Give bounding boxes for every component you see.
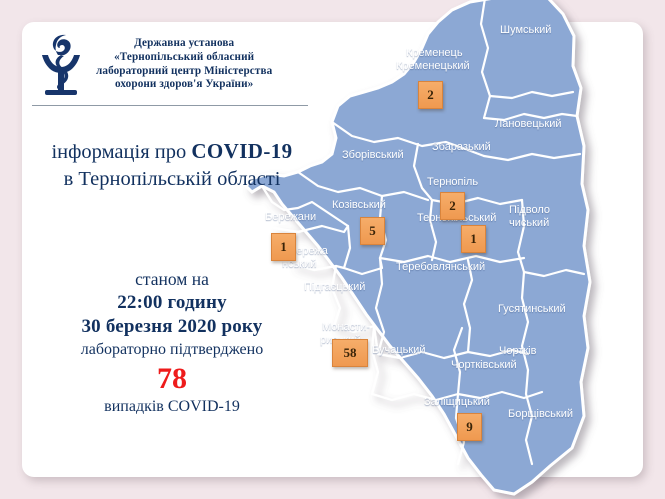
headline-prefix: інформація про	[51, 141, 191, 163]
status-time: 22:00 годину	[22, 291, 322, 315]
org-line-1: Державна установа	[96, 37, 272, 51]
case-badge-kremenetskyi[interactable]: 2	[418, 81, 443, 109]
headline-line2: в Тернопільській області	[22, 166, 322, 193]
headline-covid: COVID-19	[191, 139, 292, 163]
case-badge-ternopilskyi[interactable]: 1	[461, 225, 486, 253]
status-date: 30 березня 2020 року	[22, 315, 322, 339]
status-cases-label: випадків COVID-19	[22, 396, 322, 418]
case-badge-ternopil[interactable]: 2	[440, 192, 465, 220]
org-line-4: охорони здоров'я України»	[96, 78, 272, 92]
bowl-of-hygieia-icon	[32, 29, 90, 101]
case-badge-kozivskyi[interactable]: 5	[360, 217, 385, 245]
status-summary: станом на 22:00 годину 30 березня 2020 р…	[22, 268, 322, 418]
page-title: інформація про COVID-19 в Тернопільській…	[22, 138, 322, 193]
header-divider	[32, 105, 308, 106]
status-confirmed-label: лабораторно підтверджено	[22, 339, 322, 361]
org-line-3: лабораторний центр Міністерства	[96, 65, 272, 79]
case-badge-monastyryskyi[interactable]: 58	[332, 339, 368, 367]
case-badge-zalishchytskyi[interactable]: 9	[457, 413, 482, 441]
status-total-cases: 78	[22, 362, 322, 396]
organization-name: Державна установа «Тернопільський обласн…	[96, 37, 272, 91]
status-as-of-label: станом на	[22, 268, 322, 291]
org-line-2: «Тернопільський обласний	[96, 51, 272, 65]
case-badge-berezhanskyi[interactable]: 1	[271, 233, 296, 261]
infographic-poster: Шумський Кременець Кременецький Лановець…	[0, 0, 665, 499]
organization-header: Державна установа «Тернопільський обласн…	[22, 22, 322, 107]
